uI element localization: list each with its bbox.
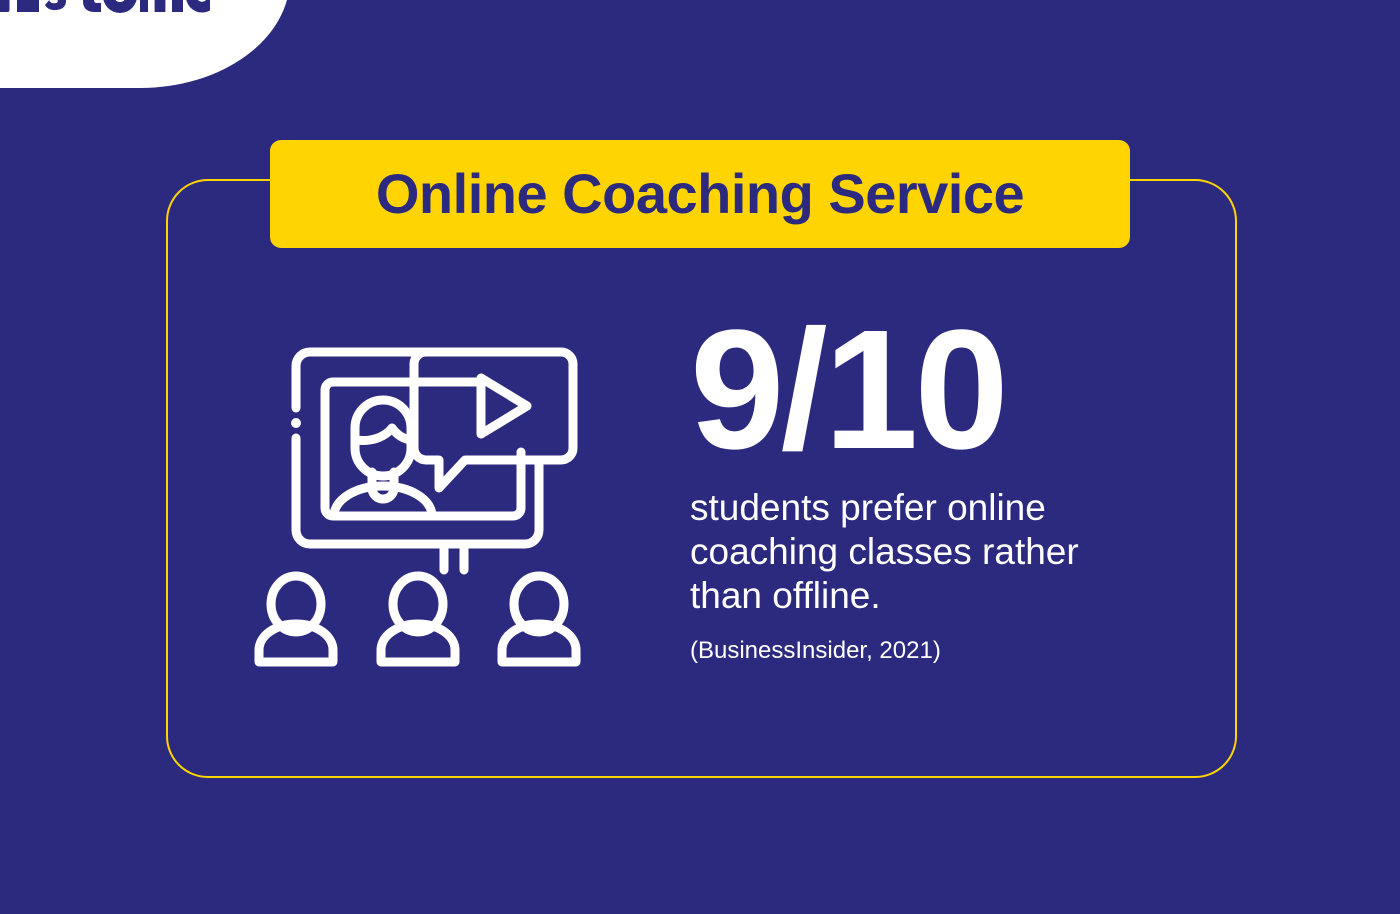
stat-description: students prefer online coaching classes … xyxy=(690,486,1160,619)
infographic-canvas: Online Coaching Service xyxy=(0,0,1400,914)
monitor-camera-dot xyxy=(291,418,301,428)
student-figure-2 xyxy=(381,576,455,662)
title-banner: Online Coaching Service xyxy=(270,140,1130,248)
student-figure-3 xyxy=(502,576,576,662)
online-class-illustration xyxy=(248,330,593,670)
content-area: 9/10 students prefer online coaching cla… xyxy=(166,300,1237,740)
stat-block: 9/10 students prefer online coaching cla… xyxy=(690,310,1190,665)
page-title: Online Coaching Service xyxy=(376,166,1024,222)
logo-badge xyxy=(0,0,290,88)
instamojo-logo-mark xyxy=(0,0,210,15)
stat-source: (BusinessInsider, 2021) xyxy=(690,637,1190,666)
play-button-icon xyxy=(481,378,527,434)
stat-value: 9/10 xyxy=(690,310,1190,472)
instamojo-logo xyxy=(0,0,210,15)
teacher-hair xyxy=(356,428,411,441)
video-speech-bubble xyxy=(414,352,573,488)
student-figure-1 xyxy=(259,576,333,662)
